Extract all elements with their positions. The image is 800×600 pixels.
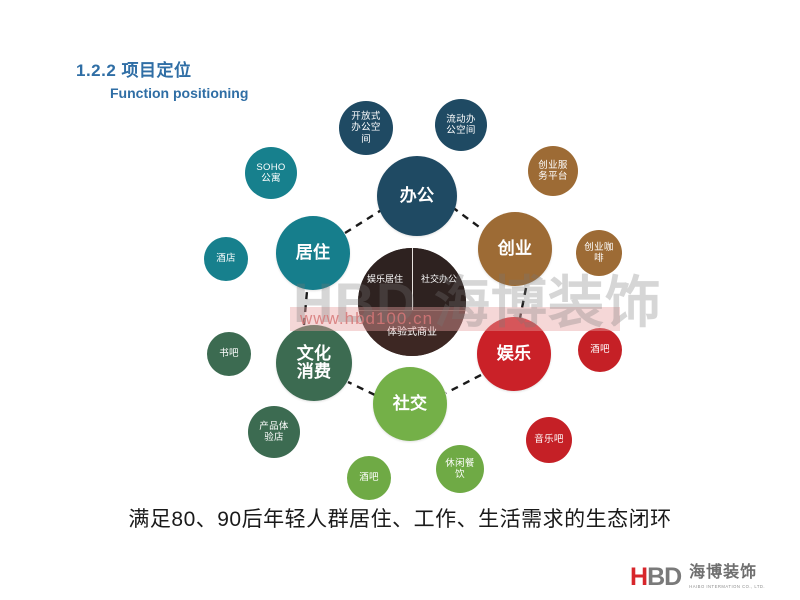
- hub-node-label-social: 社交: [391, 395, 430, 413]
- center-core: 娱乐居住 社交办公 体验式商业: [358, 248, 466, 356]
- center-quadrant-top-left: 娱乐居住: [358, 248, 412, 310]
- leaf-node-book-bar[interactable]: 书吧: [207, 332, 251, 376]
- leaf-node-product-store[interactable]: 产品体验店: [248, 406, 300, 458]
- center-divider-vertical: [412, 248, 413, 310]
- leaf-node-label-music-bar: 音乐吧: [532, 434, 565, 445]
- hub-node-label-living: 居住: [294, 244, 333, 262]
- hub-node-label-startup: 创业: [496, 240, 535, 258]
- leaf-node-label-startup-platform: 创业服务平台: [533, 160, 573, 182]
- leaf-node-open-office[interactable]: 开放式办公空间: [339, 101, 393, 155]
- leaf-node-music-bar[interactable]: 音乐吧: [526, 417, 572, 463]
- leaf-node-bar-social[interactable]: 酒吧: [347, 456, 391, 500]
- hub-node-living[interactable]: 居住: [276, 216, 350, 290]
- hub-node-label-entertain: 娱乐: [495, 345, 534, 363]
- leaf-node-label-book-bar: 书吧: [217, 348, 241, 359]
- leaf-node-label-product-store: 产品体验店: [253, 421, 295, 443]
- hub-node-office[interactable]: 办公: [377, 156, 457, 236]
- leaf-node-label-leisure-dining: 休闲餐饮: [441, 458, 480, 480]
- center-quadrant-top-left-label: 娱乐居住: [367, 274, 403, 284]
- leaf-node-label-mobile-office: 流动办公空间: [440, 114, 482, 136]
- leaf-node-label-bar-social: 酒吧: [357, 472, 381, 483]
- logo-mark-bd: BD: [647, 565, 681, 590]
- leaf-node-mobile-office[interactable]: 流动办公空间: [435, 99, 487, 151]
- slide-caption: 满足80、90后年轻人群居住、工作、生活需求的生态闭环: [0, 503, 800, 533]
- leaf-node-bar-ent[interactable]: 酒吧: [578, 328, 622, 372]
- hub-node-label-culture: 文化消费: [295, 345, 334, 382]
- center-quadrant-top-right: 社交办公: [412, 248, 466, 310]
- leaf-node-hotel[interactable]: 酒店: [204, 237, 248, 281]
- hub-node-startup[interactable]: 创业: [478, 212, 552, 286]
- center-bottom-label: 体验式商业: [387, 327, 437, 339]
- hub-node-label-office: 办公: [398, 187, 437, 205]
- hub-node-social[interactable]: 社交: [373, 367, 447, 441]
- slide-canvas: 1.2.2 项目定位 Function positioning 娱乐居住 社交办…: [0, 0, 800, 600]
- logo-mark-h: H: [630, 565, 647, 590]
- logo-name-cn: 海博装饰: [689, 565, 765, 582]
- leaf-node-label-bar-ent: 酒吧: [588, 344, 612, 355]
- leaf-node-label-open-office: 开放式办公空间: [344, 111, 387, 145]
- hub-node-entertain[interactable]: 娱乐: [477, 317, 551, 391]
- leaf-node-label-startup-cafe: 创业咖啡: [580, 242, 617, 264]
- hub-node-culture[interactable]: 文化消费: [276, 325, 352, 401]
- center-quadrant-top-right-label: 社交办公: [421, 274, 457, 284]
- leaf-node-label-hotel: 酒店: [214, 253, 238, 264]
- leaf-node-soho[interactable]: SOHO公寓: [245, 147, 297, 199]
- logo-text-block: 海博装饰 HAIBO INTERMATION CO., LTD.: [689, 565, 765, 589]
- leaf-node-leisure-dining[interactable]: 休闲餐饮: [436, 445, 484, 493]
- company-logo: H BD 海博装饰 HAIBO INTERMATION CO., LTD.: [630, 565, 765, 595]
- leaf-node-startup-platform[interactable]: 创业服务平台: [528, 146, 578, 196]
- center-divider-horizontal: [358, 310, 466, 311]
- logo-name-en: HAIBO INTERMATION CO., LTD.: [689, 584, 765, 589]
- leaf-node-startup-cafe[interactable]: 创业咖啡: [576, 230, 622, 276]
- center-bottom-section: 体验式商业: [358, 310, 466, 356]
- leaf-node-label-soho: SOHO公寓: [250, 162, 292, 184]
